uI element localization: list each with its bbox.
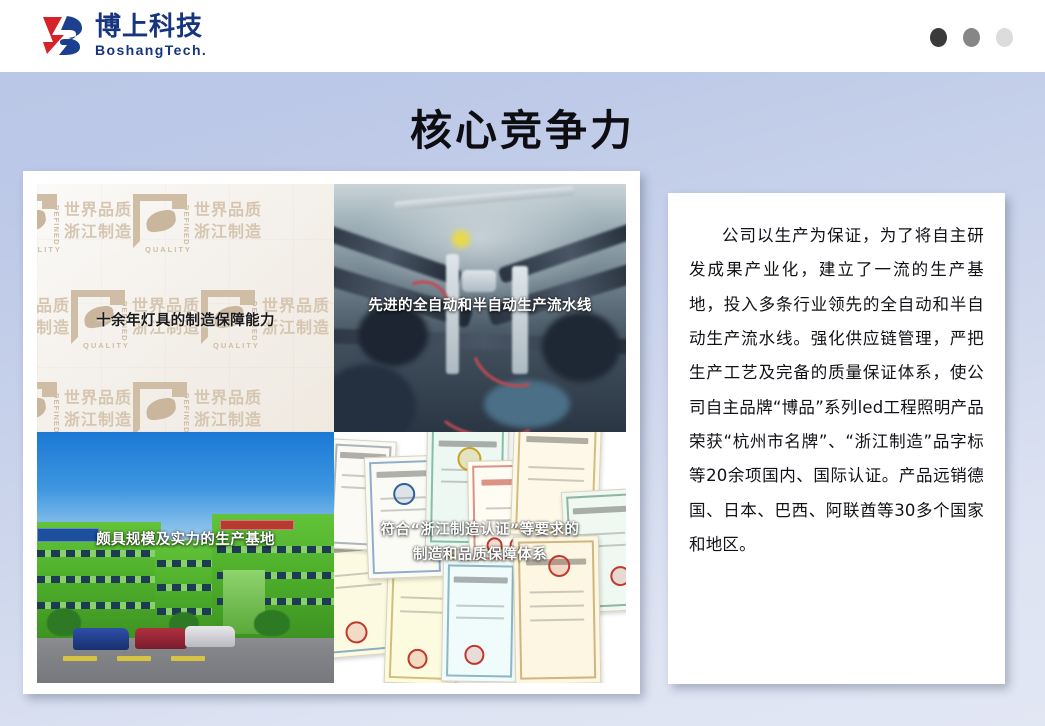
tile-caption-certificates-line2: 制造和品质保障体系 xyxy=(334,545,626,566)
car xyxy=(135,628,187,649)
boshang-logo-mark-icon xyxy=(40,12,86,58)
progress-dots[interactable] xyxy=(930,28,1013,47)
quality-defined-logo-icon: DEFINED QUALITY xyxy=(37,194,57,248)
road-marking xyxy=(63,656,97,661)
quality-defined-logo-icon: DEFINED QUALITY xyxy=(133,194,187,248)
brand-logo[interactable]: 博上科技 BoshangTech. xyxy=(40,12,207,58)
watermark-unit: DEFINED QUALITY 世界品质 浙江制造 xyxy=(37,194,132,248)
gallery-grid: DEFINED QUALITY 世界品质 浙江制造 DEFINED QUALIT… xyxy=(37,184,626,683)
road-marking xyxy=(117,656,151,661)
watermark-text: 世界品质 浙江制造 xyxy=(64,387,132,430)
quality-defined-logo-icon: DEFINED QUALITY xyxy=(133,382,187,432)
page-header: 博上科技 BoshangTech. xyxy=(0,0,1045,72)
watermark-unit: DEFINED QUALITY 世界品质 浙江制造 xyxy=(133,382,262,432)
gallery-tile-production-line[interactable]: 先进的全自动和半自动生产流水线 xyxy=(334,184,626,432)
watermark-unit: DEFINED QUALITY 世界品质 浙江制造 xyxy=(37,382,132,432)
car xyxy=(185,626,235,647)
building-sign-right xyxy=(220,520,294,530)
description-panel: 公司以生产为保证，为了将自主研发成果产业化，建立了一流的生产基地，投入多条行业领… xyxy=(668,193,1005,684)
brand-text: 博上科技 BoshangTech. xyxy=(95,14,207,57)
tree xyxy=(254,610,290,636)
description-paragraph: 公司以生产为保证，为了将自主研发成果产业化，建立了一流的生产基地，投入多条行业领… xyxy=(689,219,984,562)
car xyxy=(73,628,129,650)
gallery-card: DEFINED QUALITY 世界品质 浙江制造 DEFINED QUALIT… xyxy=(23,171,640,694)
certificate xyxy=(441,559,519,682)
dot-active[interactable] xyxy=(930,28,947,47)
watermark-text: 世界品质 浙江制造 xyxy=(194,199,262,242)
tile-caption-certificates: 符合“浙江制造认证”等要求的 xyxy=(334,520,626,541)
watermark-text: 世界品质 浙江制造 xyxy=(194,387,262,430)
quality-defined-logo-icon: DEFINED QUALITY xyxy=(37,382,57,432)
dot-inactive[interactable] xyxy=(996,28,1013,47)
page-title: 核心竞争力 xyxy=(0,97,1045,158)
tile-caption-quality-wall: 十余年灯具的制造保障能力 xyxy=(37,311,334,332)
watermark-backdrop: DEFINED QUALITY 世界品质 浙江制造 DEFINED QUALIT… xyxy=(37,184,334,432)
gallery-tile-certificates[interactable]: 符合“浙江制造认证”等要求的 制造和品质保障体系 xyxy=(334,432,626,683)
road-marking xyxy=(171,656,205,661)
gallery-tile-factory-base[interactable]: 颇具规模及实力的生产基地 xyxy=(37,432,334,683)
tile-caption-production-line: 先进的全自动和半自动生产流水线 xyxy=(334,296,626,317)
tile-caption-factory-base: 颇具规模及实力的生产基地 xyxy=(37,530,334,551)
brand-name-cn: 博上科技 xyxy=(95,14,207,40)
gallery-tile-quality-wall[interactable]: DEFINED QUALITY 世界品质 浙江制造 DEFINED QUALIT… xyxy=(37,184,334,432)
brand-name-en: BoshangTech. xyxy=(95,43,207,57)
dot-half[interactable] xyxy=(963,28,980,47)
watermark-text: 世界品质 浙江制造 xyxy=(64,199,132,242)
slide-canvas: 博上科技 BoshangTech. 核心竞争力 DEFINED QUALITY xyxy=(0,0,1045,726)
watermark-unit: DEFINED QUALITY 世界品质 浙江制造 xyxy=(133,194,262,248)
